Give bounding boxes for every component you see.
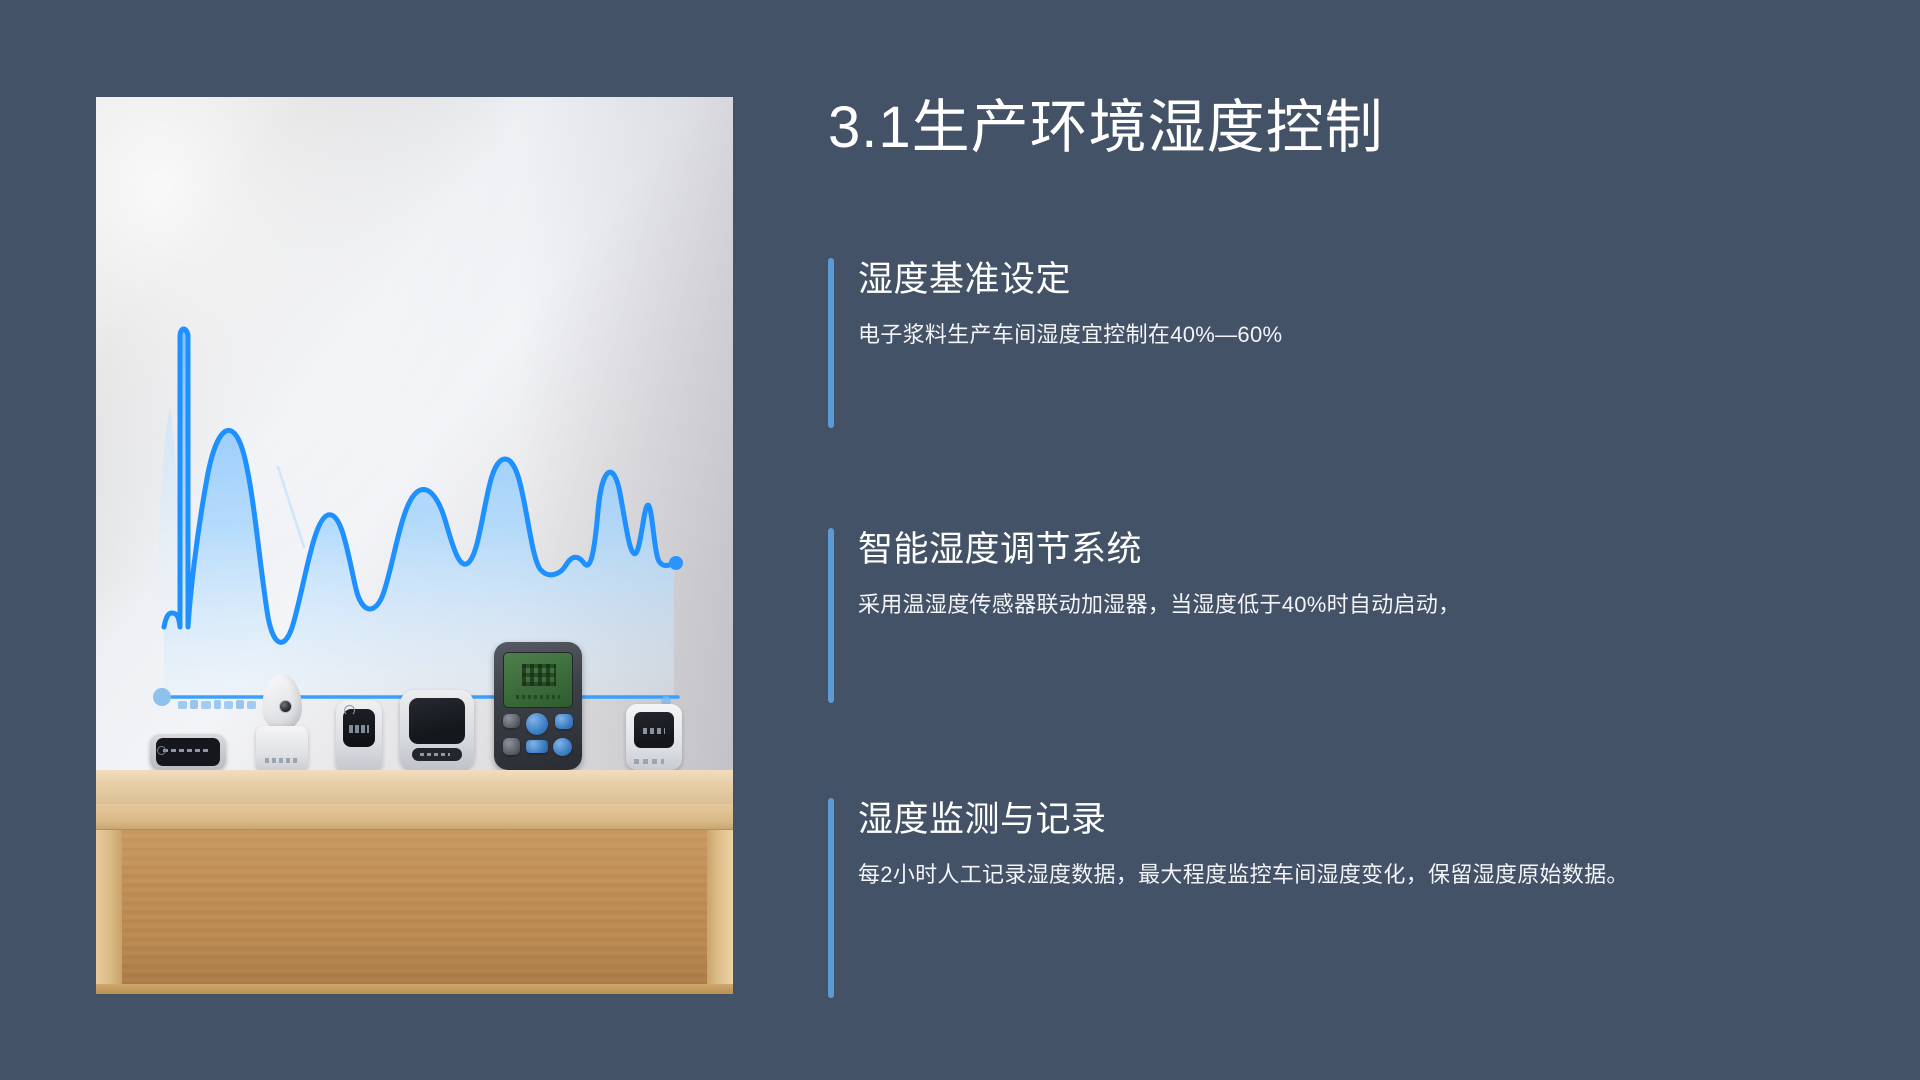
lcd-subtext	[516, 695, 560, 699]
section-body: 采用温湿度传感器联动加湿器，当湿度低于40%时自动启动，	[858, 588, 1828, 622]
device-compact-sensor	[626, 704, 682, 770]
device-row	[96, 640, 733, 770]
chart-ghost-stroke	[278, 467, 304, 547]
shelf-base	[96, 984, 733, 994]
page-title: 3.1生产环境湿度控制	[828, 96, 1384, 160]
section-accent-bar	[828, 258, 834, 428]
section-body: 每2小时人工记录湿度数据，最大程度监控车间湿度变化，保留湿度原始数据。	[858, 858, 1658, 892]
humidity-devices-photo	[96, 97, 733, 994]
section-heading: 湿度基准设定	[858, 258, 1828, 302]
device-square-panel	[400, 690, 474, 770]
humidity-arc-icon	[344, 705, 355, 716]
device-bar-monitor	[150, 734, 226, 770]
section-smart-regulation: 智能湿度调节系统 采用温湿度传感器联动加湿器，当湿度低于40%时自动启动，	[828, 528, 1828, 703]
device-lcd-controller	[494, 642, 582, 770]
shelf-front-edge	[96, 804, 733, 830]
section-accent-bar	[828, 798, 834, 998]
lcd-digits	[522, 664, 556, 686]
section-monitoring-records: 湿度监测与记录 每2小时人工记录湿度数据，最大程度监控车间湿度变化，保留湿度原始…	[828, 798, 1828, 998]
wooden-shelf	[96, 770, 733, 994]
slide-content: 3.1生产环境湿度控制 湿度基准设定 电子浆料生产车间湿度宜控制在40%—60%…	[828, 0, 1888, 1080]
keypad-button	[526, 740, 548, 753]
device-lcd-screen	[503, 652, 573, 708]
keypad-button	[526, 713, 548, 735]
device-egg-body	[262, 674, 302, 730]
shelf-left-post	[96, 830, 122, 986]
camera-lens-icon	[279, 700, 292, 713]
device-foot-label	[634, 759, 664, 764]
device-knob-icon	[157, 746, 166, 755]
shelf-surface	[96, 770, 733, 804]
device-keypad	[502, 714, 574, 760]
keypad-button	[553, 738, 572, 756]
section-humidity-baseline: 湿度基准设定 电子浆料生产车间湿度宜控制在40%—60%	[828, 258, 1828, 428]
device-slim-hygrometer	[336, 700, 382, 770]
section-body: 电子浆料生产车间湿度宜控制在40%—60%	[858, 318, 1828, 352]
device-egg-sensor	[256, 674, 308, 770]
section-heading: 智能湿度调节系统	[858, 528, 1828, 572]
keypad-button	[503, 714, 520, 728]
shelf-cabinet-interior	[96, 830, 733, 986]
device-label-strip	[412, 748, 462, 761]
shelf-right-post	[707, 830, 733, 986]
chart-endpoint-marker	[669, 556, 683, 570]
keypad-button	[503, 738, 520, 755]
device-screen	[409, 698, 465, 744]
section-accent-bar	[828, 528, 834, 703]
device-screen	[634, 712, 674, 748]
device-base	[256, 726, 308, 770]
keypad-button	[555, 714, 573, 729]
section-heading: 湿度监测与记录	[858, 798, 1828, 842]
